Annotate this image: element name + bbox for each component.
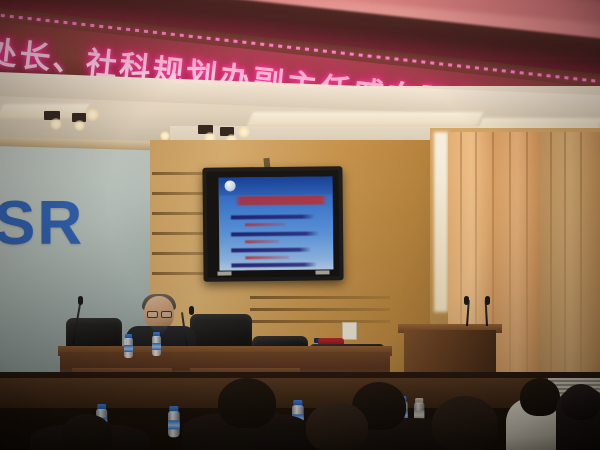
- slide-header-bar: [219, 176, 333, 195]
- spotlight: [50, 118, 62, 130]
- spotlight: [238, 126, 250, 138]
- wall-outlet[interactable]: [342, 322, 357, 340]
- slide-bullet-line: [231, 248, 311, 253]
- glasses-lens-right: [161, 311, 172, 318]
- microphone-head: [464, 296, 469, 305]
- bottle-label: [168, 420, 180, 429]
- slide-bullet-subnote: [245, 240, 279, 243]
- wood-slat: [250, 308, 390, 311]
- slide-bullet-subnote: [245, 256, 289, 259]
- audience-head: [432, 396, 498, 450]
- microphone-head: [485, 296, 490, 305]
- slide-bullet-line: [231, 215, 315, 220]
- audience-head: [562, 384, 600, 420]
- microphone-head: [189, 306, 194, 315]
- microphone-head: [78, 296, 83, 305]
- bottle-label: [124, 345, 133, 352]
- audience-head: [306, 402, 368, 450]
- speaker-head: [144, 296, 174, 330]
- audience-head: [218, 378, 276, 428]
- slide-bullet-line: [231, 232, 319, 237]
- ceiling-cove-light-center: [247, 112, 483, 126]
- slide-bullet-subnote: [245, 223, 285, 226]
- wood-slat: [250, 296, 390, 299]
- slide-title-text: [235, 195, 327, 205]
- slide-bullet-subnote: [245, 270, 283, 271]
- wood-slat: [250, 320, 390, 323]
- wall-letters: SR: [0, 188, 84, 259]
- bottle-label: [152, 343, 161, 350]
- audience-head: [520, 378, 560, 416]
- spotlight: [74, 120, 85, 131]
- audience-head: [62, 414, 112, 450]
- presentation-display: [202, 166, 343, 281]
- presentation-slide: [219, 176, 334, 270]
- spotlight: [86, 108, 99, 121]
- screen-bezel-label: [315, 270, 329, 274]
- lecture-hall-photo: 副处长、社科规划办副主任戚向阳莅临内蒙古科技大学讲学 SR: [0, 0, 600, 450]
- slide-logo-icon: [225, 180, 236, 191]
- screen-bezel-label: [217, 271, 231, 275]
- window-daylight: [434, 132, 448, 312]
- slide-bullet-line: [231, 263, 317, 268]
- curtain-panel: [540, 132, 600, 382]
- glasses-lens-left: [147, 311, 158, 318]
